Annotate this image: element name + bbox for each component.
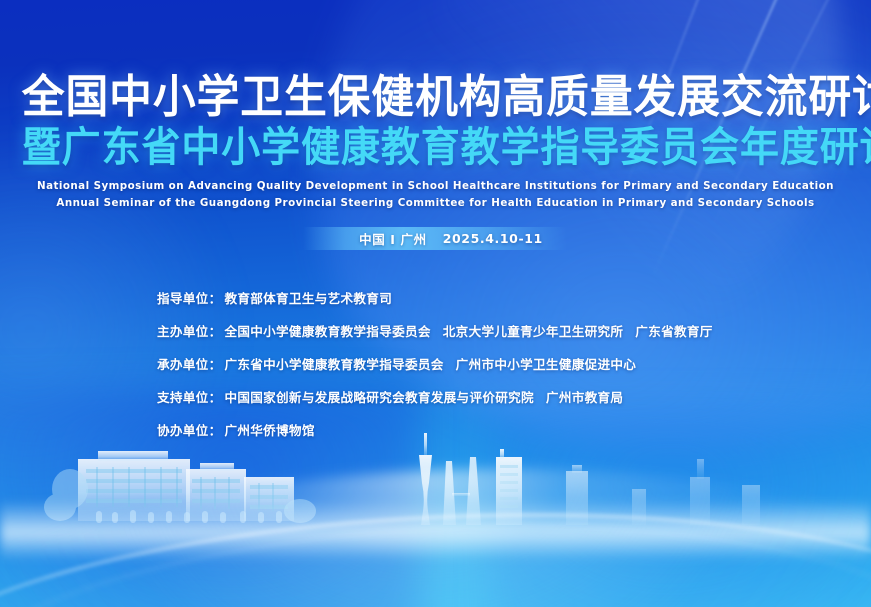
organizer-entry: 中国国家创新与发展战略研究会教育发展与评价研究院 [224, 390, 533, 405]
organizer-entry: 教育部体育卫生与艺术教育司 [224, 291, 392, 306]
school-building [44, 451, 316, 523]
organizer-row: 支持单位：中国国家创新与发展战略研究会教育发展与评价研究院广州市教育局 [157, 387, 797, 406]
organizer-row: 指导单位：教育部体育卫生与艺术教育司 [157, 288, 797, 307]
organizer-entry: 广州市中小学卫生健康促进中心 [456, 357, 637, 372]
organizer-entry: 广东省中小学健康教育教学指导委员会 [224, 357, 443, 372]
organizer-entry: 全国中小学健康教育教学指导委员会 [224, 324, 430, 339]
twin-towers [443, 457, 481, 525]
organizer-entry: 广东省教育厅 [635, 324, 712, 339]
poster-title-block: 全国中小学卫生保健机构高质量发展交流研讨活动 暨广东省中小学健康教育教学指导委员… [0, 74, 871, 168]
organizer-entry: 北京大学儿童青少年卫生研究所 [443, 324, 624, 339]
organizer-label: 承办单位： [157, 357, 221, 372]
poster-subtitle-line-1: National Symposium on Advancing Quality … [0, 178, 871, 195]
venue-date-band: 中国 I 广州 2025.4.10-11 [303, 227, 567, 250]
venue-location: 中国 I 广州 [359, 229, 427, 248]
poster-subtitle-block: National Symposium on Advancing Quality … [0, 178, 871, 211]
organizer-row: 协办单位：广州华侨博物馆 [157, 420, 797, 439]
organizer-label: 主办单位： [157, 324, 221, 339]
organizer-row: 主办单位：全国中小学健康教育教学指导委员会北京大学儿童青少年卫生研究所广东省教育… [157, 321, 797, 340]
office-tower [496, 449, 522, 525]
organizer-label: 指导单位： [157, 291, 221, 306]
organizer-entry: 广州华侨博物馆 [224, 423, 314, 438]
venue-date: 2025.4.10-11 [443, 231, 543, 246]
organizer-row: 承办单位：广东省中小学健康教育教学指导委员会广州市中小学卫生健康促进中心 [157, 354, 797, 373]
poster-subtitle-line-2: Annual Seminar of the Guangdong Provinci… [0, 195, 871, 212]
mid-building [566, 465, 588, 525]
organizer-entry: 广州市教育局 [546, 390, 623, 405]
conference-poster: 全国中小学卫生保健机构高质量发展交流研讨活动 暨广东省中小学健康教育教学指导委员… [0, 0, 871, 607]
poster-title-secondary: 暨广东省中小学健康教育教学指导委员会年度研讨活动 [22, 127, 849, 168]
organizer-list: 指导单位：教育部体育卫生与艺术教育司主办单位：全国中小学健康教育教学指导委员会北… [157, 288, 797, 453]
organizer-label: 支持单位： [157, 390, 221, 405]
poster-title-primary: 全国中小学卫生保健机构高质量发展交流研讨活动 [22, 74, 849, 119]
distant-buildings [632, 459, 760, 525]
organizer-label: 协办单位： [157, 423, 221, 438]
